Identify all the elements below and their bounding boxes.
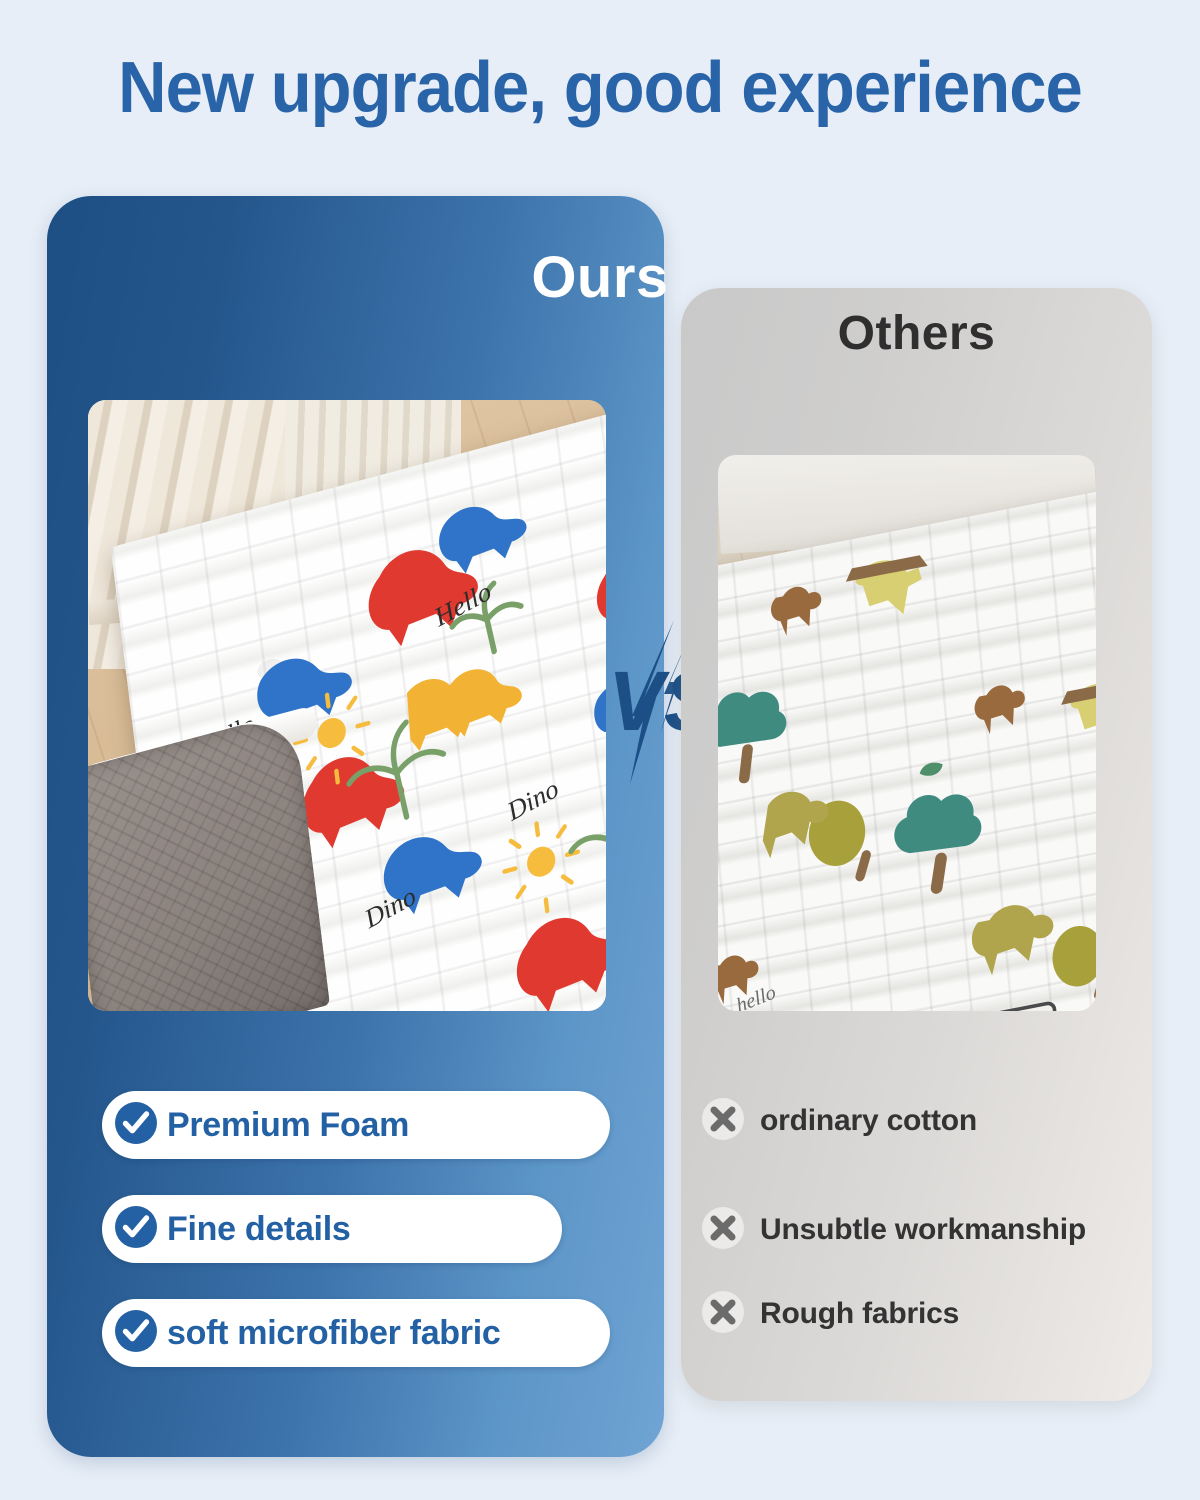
ours-feature-label: soft microfiber fabric <box>167 1314 500 1353</box>
ours-feature-pill[interactable]: Fine details <box>102 1195 562 1263</box>
ours-feature-label: Fine details <box>167 1210 350 1249</box>
mat-gray-underside <box>88 711 330 1011</box>
check-circle-icon <box>113 1204 159 1255</box>
others-feature-label: Rough fabrics <box>760 1297 959 1331</box>
svg-text:Dino: Dino <box>502 773 562 827</box>
ours-product-photo: Hello Hello Dino Dino Hello <box>88 400 606 1011</box>
others-feature-row[interactable]: ordinary cotton <box>700 1095 977 1147</box>
animal-print-mat: hello dog <box>718 487 1096 1011</box>
ours-feature-pill[interactable]: soft microfiber fabric <box>102 1299 610 1367</box>
x-circle-icon <box>700 1289 746 1340</box>
others-feature-row[interactable]: Rough fabrics <box>700 1288 959 1340</box>
others-feature-label: Unsubtle workmanship <box>760 1213 1086 1247</box>
others-feature-row[interactable]: Unsubtle workmanship <box>700 1204 1086 1256</box>
muted-print-motifs: hello dog <box>718 487 1096 1011</box>
ours-feature-label: Premium Foam <box>167 1106 409 1145</box>
page-title: New upgrade, good experience <box>42 52 1158 124</box>
check-circle-icon <box>113 1308 159 1359</box>
others-product-photo: hello dog <box>718 455 1096 1011</box>
x-circle-icon <box>700 1205 746 1256</box>
others-panel-title: Others <box>681 306 1152 361</box>
others-feature-label: ordinary cotton <box>760 1104 977 1138</box>
x-circle-icon <box>700 1096 746 1147</box>
ours-feature-pill[interactable]: Premium Foam <box>102 1091 610 1159</box>
check-circle-icon <box>113 1100 159 1151</box>
